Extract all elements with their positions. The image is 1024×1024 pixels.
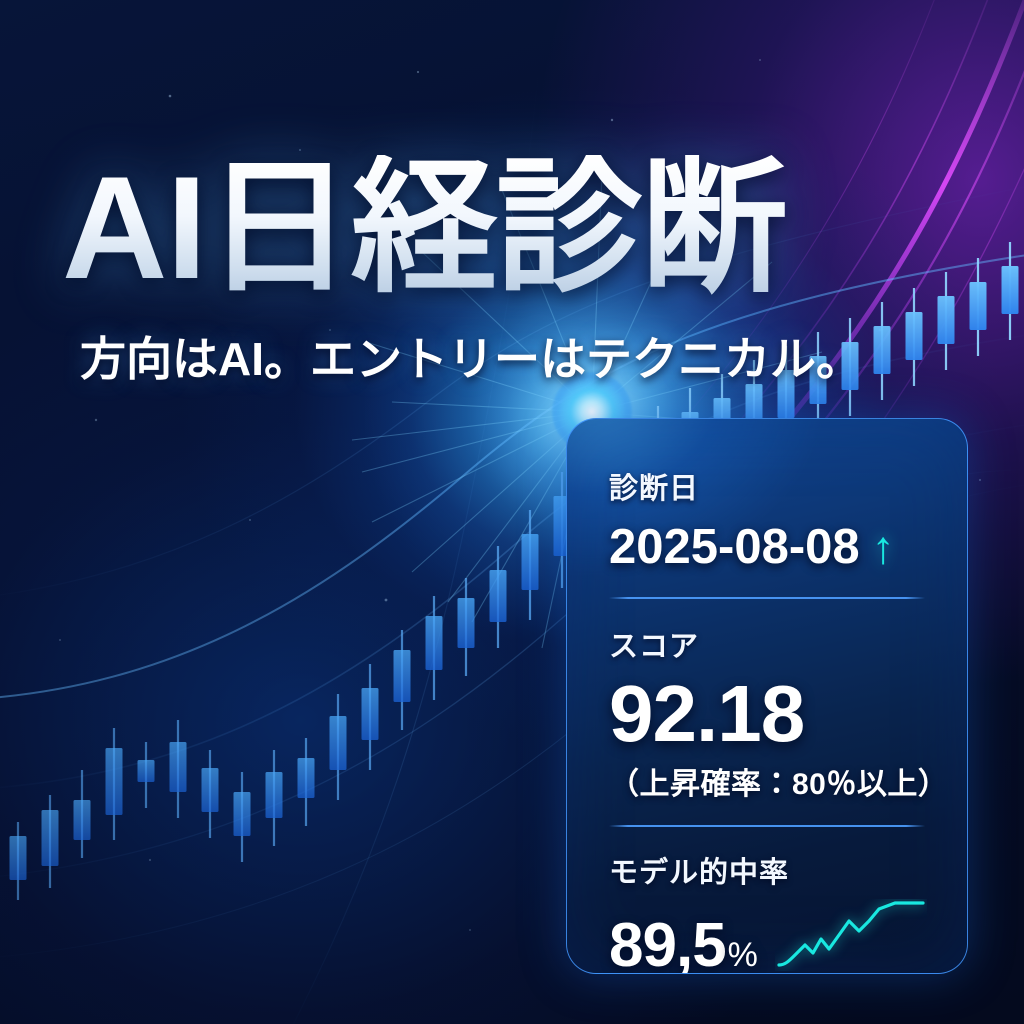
percent-symbol: % [728,936,757,974]
date-value: 2025-08-08 [609,519,860,575]
date-label: 診断日 [609,465,927,507]
subheadline-text: 方向はAI。エントリーはテクニカル。 [80,336,940,382]
accuracy-value-row: 89,5% [609,899,927,974]
score-label: スコア [609,623,927,665]
accuracy-number: 89,5 [609,911,726,974]
score-value: 92.18 [609,671,927,757]
date-value-row: 2025-08-08 ↑ [609,519,927,575]
accuracy-label: モデル的中率 [609,849,927,891]
divider-2 [609,825,925,827]
score-note: （上昇確率：80％以上） [609,759,927,803]
headline: AI日経診断 [62,148,882,308]
diagnosis-card: 診断日 2025-08-08 ↑ スコア 92.18 （上昇確率：80％以上） … [566,418,968,974]
banner-canvas: AI日経診断 方向はAI。エントリーはテクニカル。 診断日 2025-08-08… [0,0,1024,1024]
headline-text: AI日経診断 [62,155,786,301]
accuracy-value: 89,5% [609,915,757,974]
arrow-up-icon: ↑ [872,524,895,570]
accuracy-block: モデル的中率 89,5% [609,849,927,974]
divider-1 [609,597,925,599]
score-block: スコア 92.18 （上昇確率：80％以上） [609,623,927,803]
date-block: 診断日 2025-08-08 ↑ [609,465,927,575]
uptrend-sparkline-icon [775,899,927,971]
